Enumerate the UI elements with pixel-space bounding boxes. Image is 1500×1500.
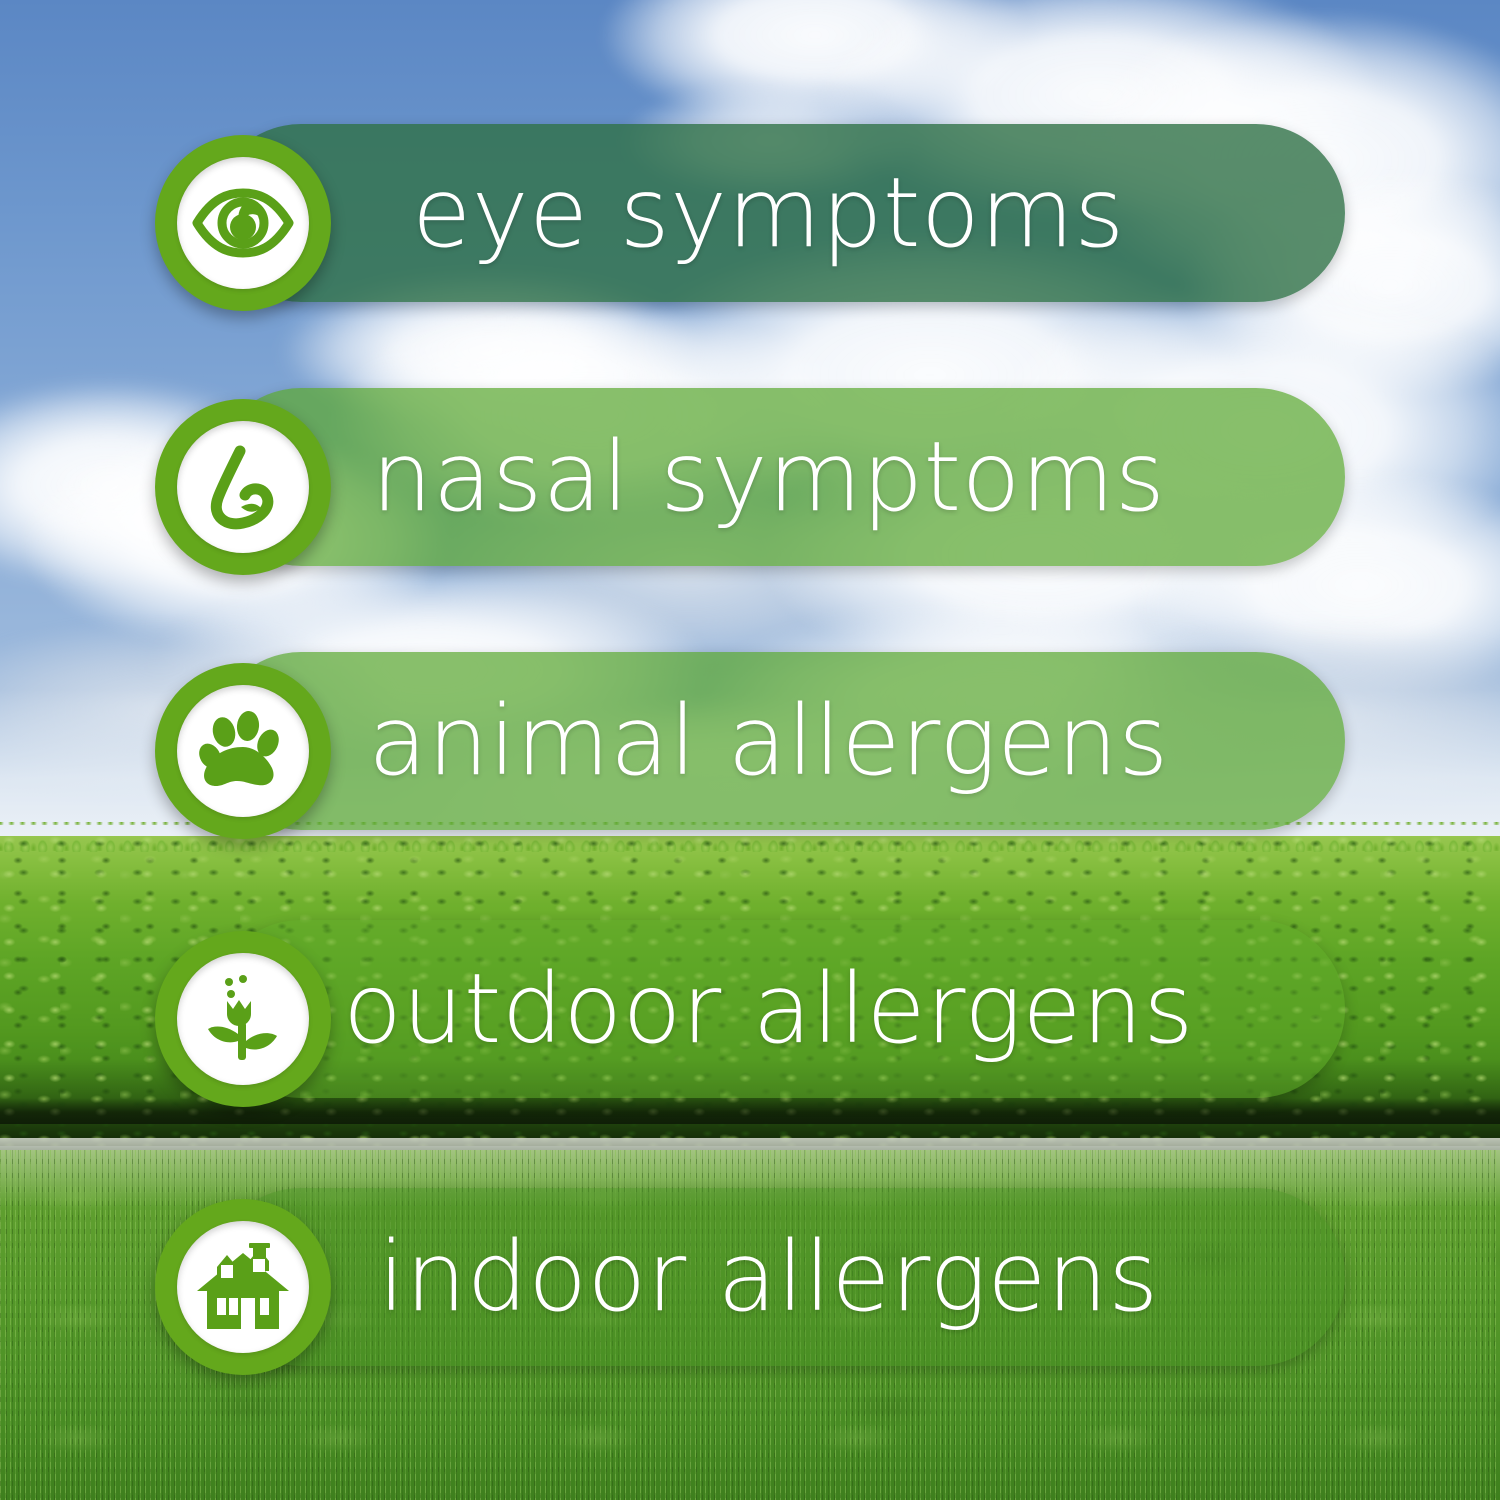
label-animal-allergens: animal allergens <box>302 686 1235 796</box>
label-indoor-allergens: indoor allergens <box>302 1222 1235 1332</box>
label-eye-symptoms: eye symptoms <box>302 158 1235 268</box>
medallion-disc <box>177 953 309 1085</box>
medallion-house[interactable] <box>155 1199 331 1375</box>
pill-nasal-symptoms[interactable]: nasal symptoms <box>212 388 1345 566</box>
pill-animal-allergens[interactable]: animal allergens <box>212 652 1345 830</box>
pill-outdoor-allergens[interactable]: outdoor allergens <box>212 920 1345 1098</box>
pill-indoor-allergens[interactable]: indoor allergens <box>212 1188 1345 1366</box>
medallion-disc <box>177 421 309 553</box>
medallion-eye[interactable] <box>155 135 331 311</box>
medallion-flower[interactable] <box>155 931 331 1107</box>
medallion-nose[interactable] <box>155 399 331 575</box>
medallion-paw[interactable] <box>155 663 331 839</box>
eye-icon <box>191 171 295 275</box>
flower-icon <box>191 967 295 1071</box>
paw-icon <box>191 699 295 803</box>
house-icon <box>191 1235 295 1339</box>
infographic-canvas: eye symptoms nasal symptoms <box>0 0 1500 1500</box>
medallion-disc <box>177 157 309 289</box>
label-outdoor-allergens: outdoor allergens <box>302 954 1235 1064</box>
label-nasal-symptoms: nasal symptoms <box>302 422 1235 532</box>
medallion-disc <box>177 1221 309 1353</box>
pill-eye-symptoms[interactable]: eye symptoms <box>212 124 1345 302</box>
nose-icon <box>191 435 295 539</box>
medallion-disc <box>177 685 309 817</box>
